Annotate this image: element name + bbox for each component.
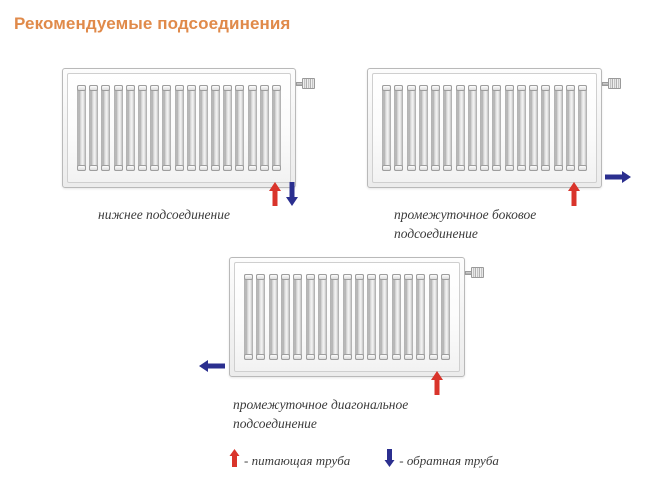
- radiator-fin: [175, 85, 184, 171]
- supply-arrow-up-3: [430, 371, 444, 395]
- radiator-fins: [77, 85, 281, 171]
- radiator-fin: [367, 274, 376, 360]
- radiator-fin: [407, 85, 416, 171]
- radiator-fin: [441, 274, 450, 360]
- radiator-body: [62, 68, 296, 188]
- radiator-fin: [199, 85, 208, 171]
- caption-side-connection: промежуточное боковое подсоединение: [394, 205, 644, 243]
- radiator-fin: [272, 85, 281, 171]
- valve-head: [302, 78, 315, 89]
- radiator-fin: [404, 274, 413, 360]
- radiator-fin: [505, 85, 514, 171]
- radiator-fin: [256, 274, 265, 360]
- legend-item-return: - обратная труба: [384, 449, 499, 472]
- radiator-fin: [566, 85, 575, 171]
- return-arrow-right-2: [605, 170, 631, 184]
- radiator-fin: [394, 85, 403, 171]
- radiator-body: [229, 257, 465, 377]
- radiator-inner-frame: [234, 262, 460, 372]
- radiator-valve-icon: [296, 78, 315, 89]
- radiator-fin: [517, 85, 526, 171]
- radiator-fin: [379, 274, 388, 360]
- radiator-fin: [211, 85, 220, 171]
- radiator-fin: [89, 85, 98, 171]
- supply-arrow-up-1: [268, 182, 282, 206]
- return-arrow-down-1: [285, 182, 299, 206]
- supply-arrow-up-2: [567, 182, 581, 206]
- radiator-fin: [77, 85, 86, 171]
- radiator-fin: [281, 274, 290, 360]
- valve-head: [608, 78, 621, 89]
- legend-label-supply: - питающая труба: [244, 453, 350, 469]
- radiator-fin: [293, 274, 302, 360]
- caption-bottom-connection: нижнее подсоединение: [98, 205, 328, 224]
- radiator-fin: [431, 85, 440, 171]
- radiator-fin: [260, 85, 269, 171]
- radiator-fin: [392, 274, 401, 360]
- arrow-down-icon: [384, 449, 395, 472]
- radiator-fin: [492, 85, 501, 171]
- radiator-fin: [419, 85, 428, 171]
- radiator-body: [367, 68, 602, 188]
- radiator-fin: [480, 85, 489, 171]
- radiator-fin: [429, 274, 438, 360]
- radiator-fin: [126, 85, 135, 171]
- radiator-fin: [244, 274, 253, 360]
- arrow-up-icon: [229, 449, 240, 472]
- radiator-fin: [114, 85, 123, 171]
- radiator-fin: [382, 85, 391, 171]
- radiator-fin: [223, 85, 232, 171]
- radiator-diagram-diagonal-connection: [229, 257, 465, 377]
- caption-diagonal-connection: промежуточное диагональное подсоединение: [233, 395, 503, 433]
- radiator-valve-icon: [602, 78, 621, 89]
- radiator-fin: [138, 85, 147, 171]
- radiator-fin: [269, 274, 278, 360]
- radiator-fin: [318, 274, 327, 360]
- radiator-fin: [355, 274, 364, 360]
- radiator-fin: [529, 85, 538, 171]
- return-arrow-left-3: [199, 359, 225, 373]
- radiator-fin: [330, 274, 339, 360]
- radiator-fin: [235, 85, 244, 171]
- radiator-fin: [248, 85, 257, 171]
- radiator-diagram-side-connection: [367, 68, 602, 188]
- radiator-fin: [416, 274, 425, 360]
- radiator-fin: [101, 85, 110, 171]
- radiator-valve-icon: [465, 267, 484, 278]
- radiator-fin: [443, 85, 452, 171]
- page-title: Рекомендуемые подсоединения: [14, 14, 290, 34]
- radiator-fin: [468, 85, 477, 171]
- radiator-fin: [456, 85, 465, 171]
- radiator-fins: [382, 85, 587, 171]
- radiator-fin: [541, 85, 550, 171]
- radiator-fin: [306, 274, 315, 360]
- radiator-diagram-bottom-connection: [62, 68, 296, 188]
- radiator-fin: [343, 274, 352, 360]
- radiator-fin: [162, 85, 171, 171]
- radiator-fin: [150, 85, 159, 171]
- radiator-fin: [554, 85, 563, 171]
- radiator-inner-frame: [67, 73, 291, 183]
- valve-head: [471, 267, 484, 278]
- legend-label-return: - обратная труба: [399, 453, 499, 469]
- radiator-fin: [187, 85, 196, 171]
- radiator-inner-frame: [372, 73, 597, 183]
- radiator-fins: [244, 274, 450, 360]
- legend: - питающая труба - обратная труба: [229, 449, 499, 472]
- legend-item-supply: - питающая труба: [229, 449, 350, 472]
- radiator-fin: [578, 85, 587, 171]
